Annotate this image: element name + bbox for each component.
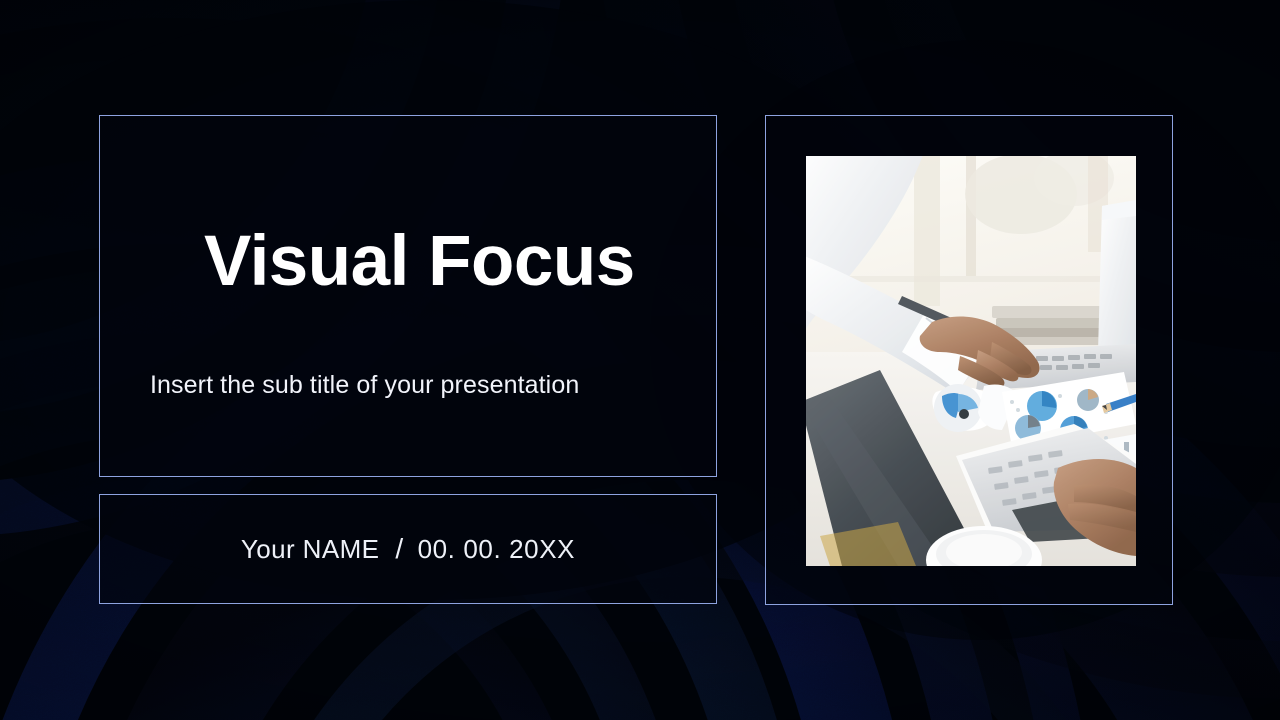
author-date-line: Your NAME / 00. 00. 20XX (241, 533, 575, 565)
subtitle-text: Insert the sub title of your presentatio… (150, 371, 670, 400)
author-name: Your NAME (241, 534, 379, 565)
separator-slash: / (379, 533, 417, 565)
photo-frame (806, 156, 1136, 566)
title-panel: Visual Focus Insert the sub title of you… (99, 115, 717, 477)
presentation-slide: Visual Focus Insert the sub title of you… (0, 0, 1280, 720)
author-date-panel: Your NAME / 00. 00. 20XX (99, 494, 717, 604)
laptop-typing-photo (806, 156, 1136, 566)
presentation-date: 00. 00. 20XX (418, 534, 576, 565)
page-title: Visual Focus (204, 226, 614, 297)
photo-panel (765, 115, 1173, 605)
